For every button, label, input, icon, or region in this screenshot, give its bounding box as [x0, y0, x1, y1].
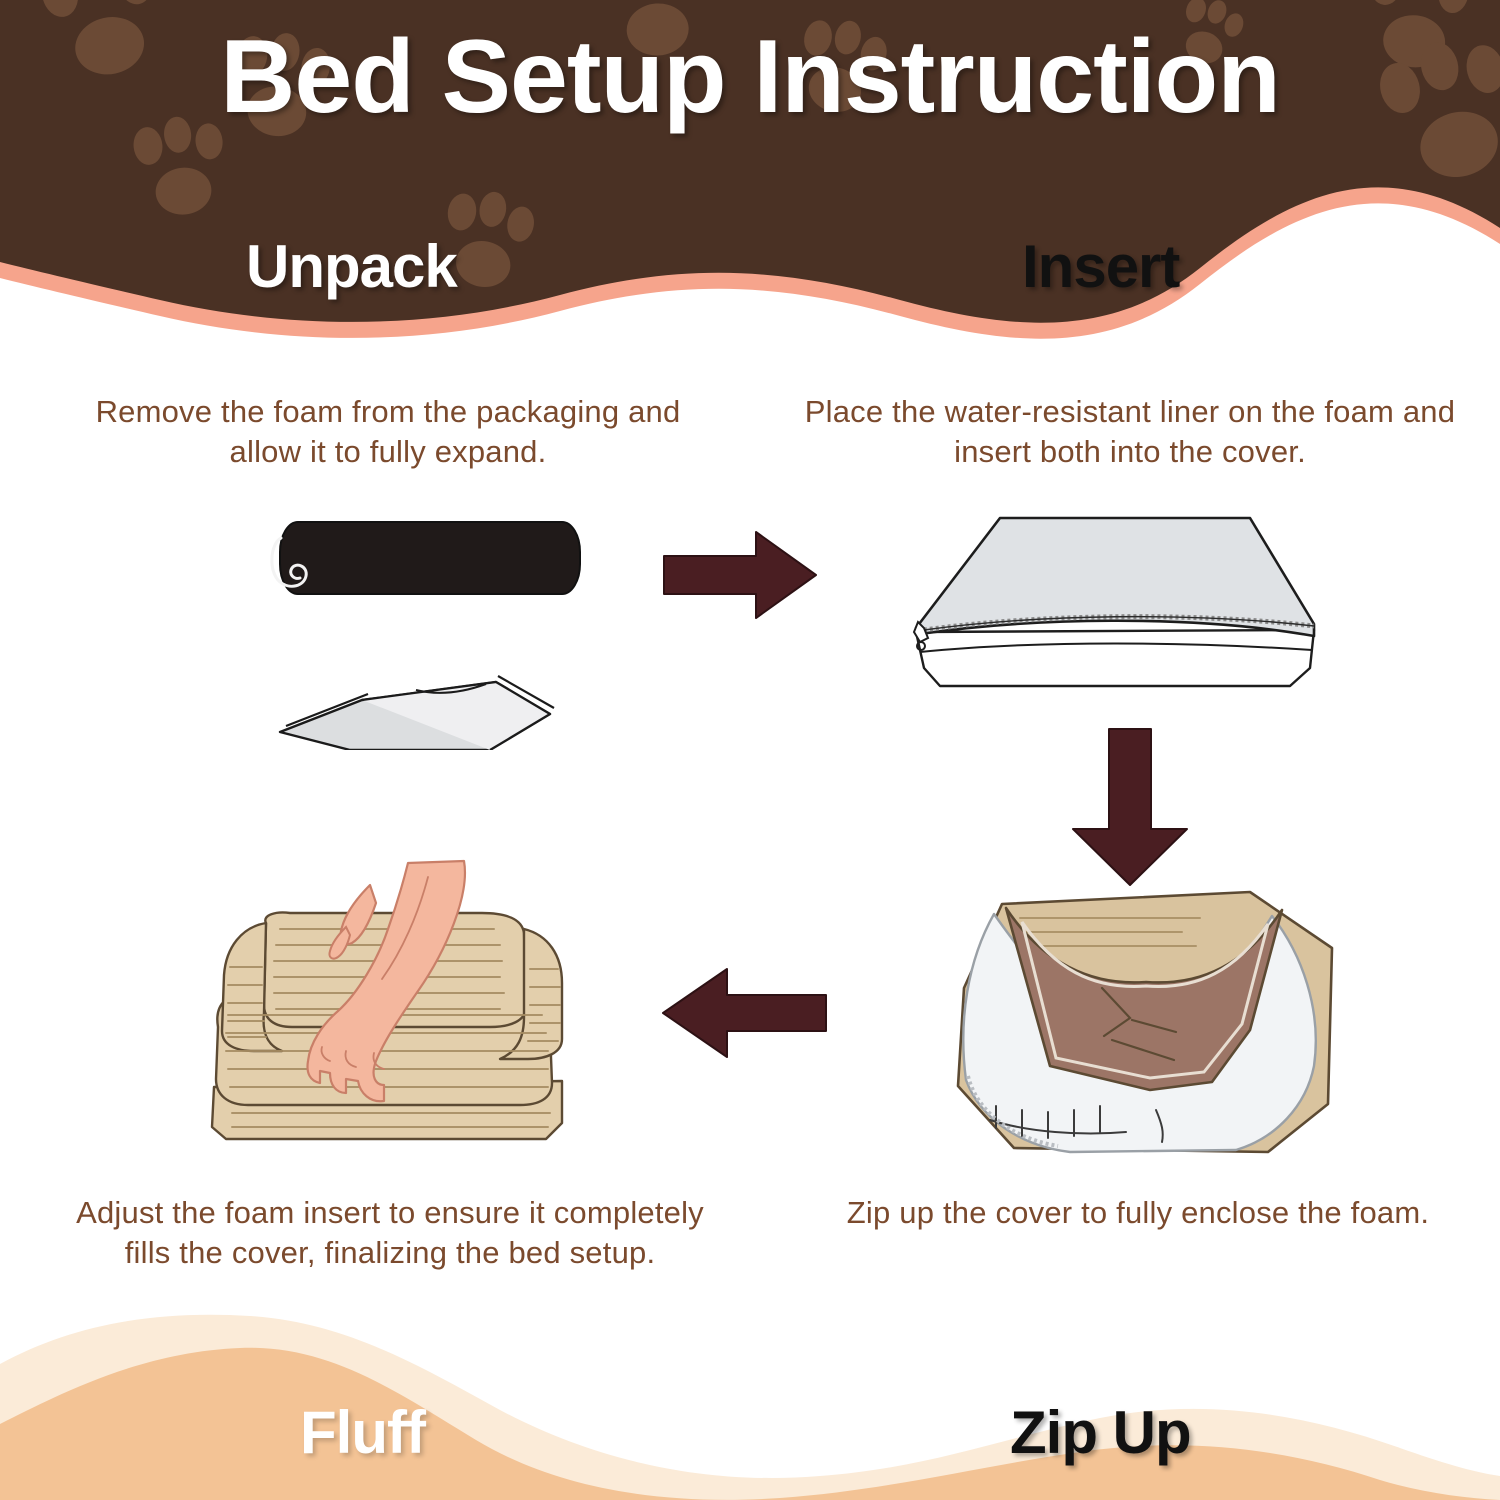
- step-tag-unpack: Unpack: [246, 232, 457, 301]
- caption-insert: Place the water-resistant liner on the f…: [800, 392, 1460, 473]
- infographic-page: Bed Setup Instruction Unpack Insert Remo…: [0, 0, 1500, 1500]
- caption-zip-up: Zip up the cover to fully enclose the fo…: [838, 1193, 1438, 1233]
- illustration-zip-up: [950, 870, 1350, 1185]
- step-tag-fluff: Fluff: [300, 1398, 425, 1467]
- footer-wave-graphic: [0, 1290, 1500, 1500]
- header-banner: Bed Setup Instruction: [0, 0, 1500, 350]
- foam-base: [916, 630, 1314, 686]
- caption-fluff: Adjust the foam insert to ensure it comp…: [60, 1193, 720, 1274]
- rolled-foam-icon: [272, 522, 580, 594]
- illustration-fluff: [170, 855, 600, 1190]
- arrow-unpack-to-insert: [660, 520, 820, 635]
- step-tag-zip-up: Zip Up: [1010, 1398, 1191, 1467]
- footer-banner: [0, 1290, 1500, 1500]
- step-tag-insert: Insert: [1022, 232, 1179, 301]
- illustration-unpack: [250, 510, 650, 755]
- caption-unpack: Remove the foam from the packaging and a…: [58, 392, 718, 473]
- illustration-insert: [890, 500, 1320, 715]
- page-title: Bed Setup Instruction: [0, 18, 1500, 137]
- arrow-zipup-to-fluff: [655, 955, 830, 1075]
- folded-liner-icon: [280, 676, 554, 750]
